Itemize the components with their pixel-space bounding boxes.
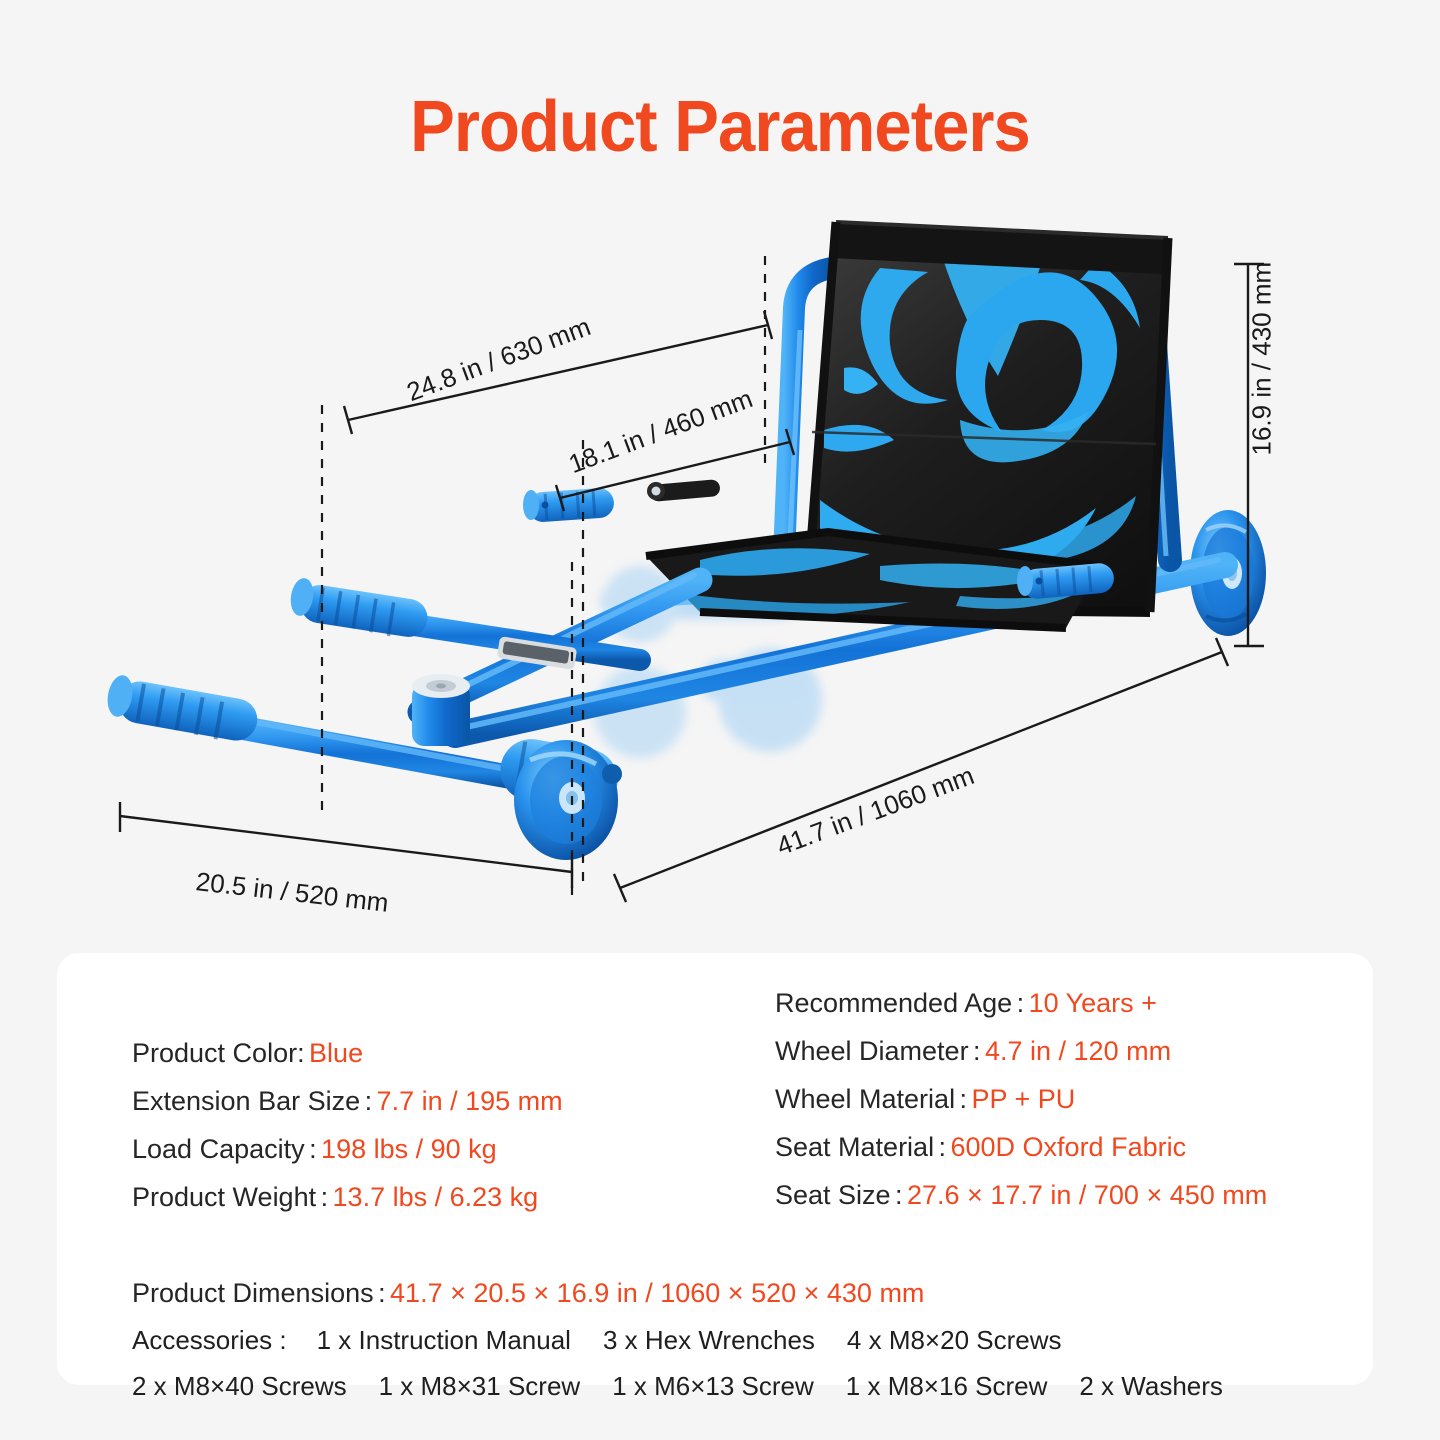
black-accent-bar	[647, 479, 721, 502]
dimension-label-430: 16.9 in / 430 mm	[1247, 262, 1278, 456]
spec-value: Blue	[309, 1038, 363, 1068]
spec-separator: :	[365, 1086, 373, 1116]
spec-row: Seat Size : 27.6 × 17.7 in / 700 × 450 m…	[775, 1171, 1267, 1219]
handle-grip-lower	[105, 673, 261, 744]
spec-row-product-dimensions: Product Dimensions : 41.7 × 20.5 × 16.9 …	[132, 1269, 924, 1317]
spec-value: PP + PU	[971, 1084, 1075, 1114]
spec-label: Recommended Age	[775, 988, 1012, 1018]
spec-label: Product Dimensions	[132, 1278, 374, 1308]
spec-separator: :	[960, 1084, 968, 1114]
spec-column-left: Product Color: Blue Extension Bar Size :…	[132, 1029, 563, 1221]
accessory-item: 4 x M8×20 Screws	[847, 1325, 1062, 1355]
spec-label: Product Weight	[132, 1182, 316, 1212]
accessories-line-1: Accessories :1 x Instruction Manual3 x H…	[132, 1317, 1223, 1363]
spec-label: Product Color	[132, 1038, 297, 1068]
accessory-item: 1 x M8×31 Screw	[379, 1371, 581, 1401]
accessory-item: 2 x Washers	[1079, 1371, 1223, 1401]
spec-row: Wheel Material : PP + PU	[775, 1075, 1267, 1123]
accessory-item: 1 x M8×16 Screw	[846, 1371, 1048, 1401]
spec-separator: :	[321, 1182, 329, 1212]
steering-hub	[412, 674, 470, 746]
product-parameters-page: Product Parameters	[0, 0, 1440, 1440]
spec-value: 41.7 × 20.5 × 16.9 in / 1060 × 520 × 430…	[390, 1278, 924, 1308]
front-wheel	[496, 734, 623, 860]
spec-separator: :	[378, 1278, 386, 1308]
accessory-item: 3 x Hex Wrenches	[603, 1325, 815, 1355]
handle-grip-upper	[288, 577, 430, 640]
spec-row: Load Capacity : 198 lbs / 90 kg	[132, 1125, 563, 1173]
spec-label: Extension Bar Size	[132, 1086, 360, 1116]
spec-value: 13.7 lbs / 6.23 kg	[333, 1182, 539, 1212]
spec-value: 7.7 in / 195 mm	[377, 1086, 563, 1116]
spec-column-right: Recommended Age : 10 Years + Wheel Diame…	[775, 979, 1267, 1219]
spec-row: Extension Bar Size : 7.7 in / 195 mm	[132, 1077, 563, 1125]
spec-label: Load Capacity	[132, 1134, 305, 1164]
spec-row: Seat Material : 600D Oxford Fabric	[775, 1123, 1267, 1171]
accessory-item: 1 x M6×13 Screw	[612, 1371, 814, 1401]
accessories-block: Accessories :1 x Instruction Manual3 x H…	[132, 1317, 1223, 1409]
accessories-label: Accessories :	[132, 1325, 287, 1355]
spec-label: Wheel Diameter	[775, 1036, 969, 1066]
spec-label: Wheel Material	[775, 1084, 955, 1114]
accessories-line-2: 2 x M8×40 Screws1 x M8×31 Screw1 x M6×13…	[132, 1363, 1223, 1409]
spec-label: Seat Size	[775, 1180, 891, 1210]
spec-row: Wheel Diameter : 4.7 in / 120 mm	[775, 1027, 1267, 1075]
spec-value: 10 Years +	[1029, 988, 1157, 1018]
spec-value: 4.7 in / 120 mm	[985, 1036, 1171, 1066]
footrest-peg-left	[523, 487, 615, 523]
product-diagram: 24.8 in / 630 mm 18.1 in / 460 mm 20.5 i…	[0, 0, 1440, 950]
spec-row: Product Weight : 13.7 lbs / 6.23 kg	[132, 1173, 563, 1221]
spec-separator: :	[895, 1180, 903, 1210]
spec-row: Product Color: Blue	[132, 1029, 563, 1077]
spec-separator: :	[309, 1134, 317, 1164]
accessory-item: 1 x Instruction Manual	[317, 1325, 571, 1355]
product-illustration	[0, 0, 1440, 950]
specifications-card: Product Color: Blue Extension Bar Size :…	[57, 953, 1373, 1385]
spec-label: Seat Material	[775, 1132, 934, 1162]
spec-value: 198 lbs / 90 kg	[321, 1134, 497, 1164]
dimline-520	[120, 802, 572, 888]
accessory-item: 2 x M8×40 Screws	[132, 1371, 347, 1401]
spec-separator: :	[939, 1132, 947, 1162]
spec-row: Recommended Age : 10 Years +	[775, 979, 1267, 1027]
spec-value: 600D Oxford Fabric	[951, 1132, 1187, 1162]
spec-separator: :	[297, 1038, 305, 1068]
spec-separator: :	[1017, 988, 1025, 1018]
spec-separator: :	[973, 1036, 981, 1066]
spec-value: 27.6 × 17.7 in / 700 × 450 mm	[907, 1180, 1267, 1210]
